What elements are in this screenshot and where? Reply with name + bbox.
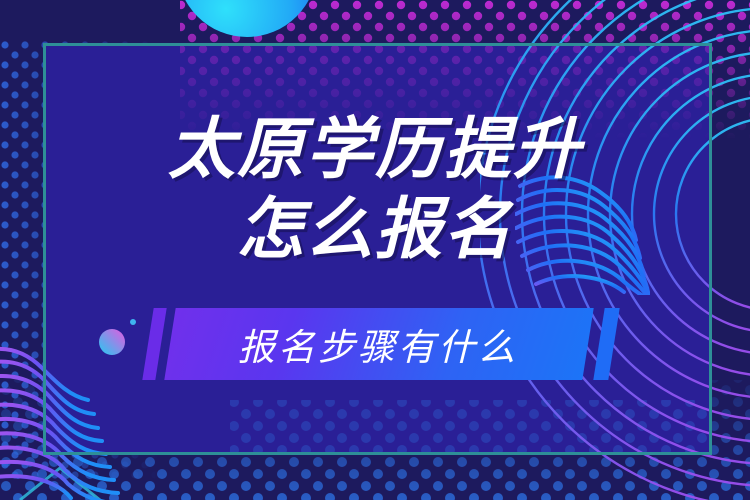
halftone-dots-panel-bottom <box>230 400 720 455</box>
subtitle-banner: 报名步骤有什么 <box>0 300 750 388</box>
headline-line-2: 怎么报名 <box>0 190 750 270</box>
subtitle-text: 报名步骤有什么 <box>0 300 750 388</box>
poster-canvas: 太原学历提升 怎么报名 报名步骤有什么 <box>0 0 750 500</box>
headline-line-1: 太原学历提升 <box>0 110 750 190</box>
page-title: 太原学历提升 怎么报名 <box>0 110 750 270</box>
